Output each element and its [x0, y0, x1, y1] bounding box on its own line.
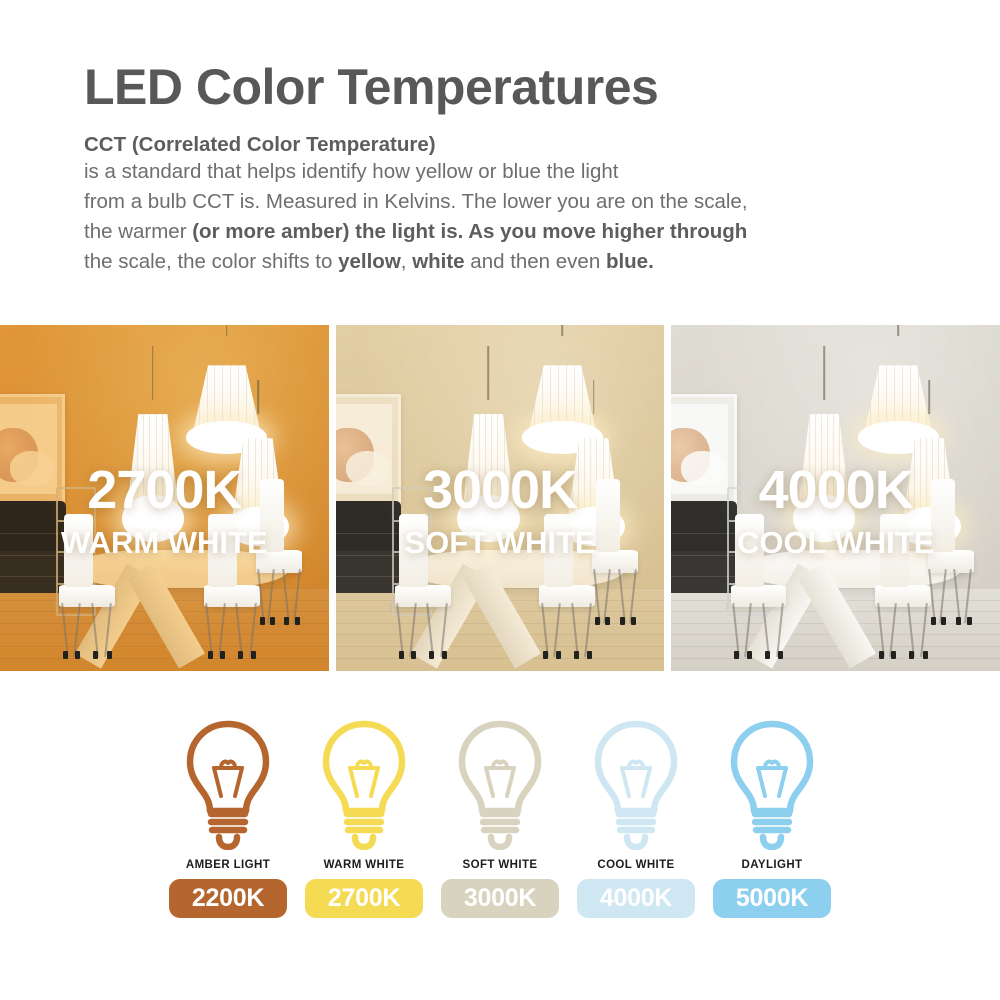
- chair-foot: [543, 651, 548, 659]
- header: LED Color Temperatures CCT (Correlated C…: [0, 0, 1000, 278]
- kelvin-badge[interactable]: 5000K: [713, 879, 831, 918]
- chair-back: [880, 514, 909, 587]
- scale-item-2200k[interactable]: AMBER LIGHT2200K: [160, 718, 296, 918]
- room-panel-2700k: 2700K WARM WHITE: [0, 325, 329, 671]
- chair-leg: [732, 603, 739, 657]
- chair-leg: [61, 603, 68, 657]
- lamp-cord: [929, 380, 931, 413]
- chair-foot: [429, 651, 434, 659]
- chair-foot: [941, 617, 946, 625]
- page-title: LED Color Temperatures: [84, 62, 1000, 113]
- kelvin-badge[interactable]: 2200K: [169, 879, 287, 918]
- kelvin-badge[interactable]: 4000K: [577, 879, 695, 918]
- room-scene-cool: [671, 325, 1000, 671]
- chair-foot: [75, 651, 80, 659]
- chair-leg: [603, 569, 610, 623]
- lamp-cord: [488, 346, 490, 400]
- scale-item-3000k[interactable]: SOFT WHITE3000K: [432, 718, 568, 918]
- chair-seat: [875, 585, 931, 608]
- chair-foot: [270, 617, 275, 625]
- chair-foot: [765, 651, 770, 659]
- scale-label: WARM WHITE: [324, 859, 405, 871]
- chair-foot: [556, 651, 561, 659]
- chair-leg: [104, 603, 111, 657]
- chair-leg: [744, 603, 751, 657]
- chair-foot: [620, 617, 625, 625]
- chair-leg: [205, 603, 212, 657]
- chair-leg: [889, 603, 896, 657]
- chair-foot: [251, 651, 256, 659]
- chair-seat: [539, 585, 595, 608]
- chair-leg: [571, 603, 578, 657]
- chair-foot: [956, 617, 961, 625]
- chair-leg: [907, 603, 914, 657]
- lamp-cord: [823, 346, 825, 400]
- chair-leg: [257, 569, 264, 623]
- lamp-diffuser: [122, 495, 185, 542]
- scale-label: AMBER LIGHT: [186, 859, 270, 871]
- chair-foot: [574, 651, 579, 659]
- chair-leg: [440, 603, 447, 657]
- chair-back: [208, 514, 237, 587]
- kelvin-badge[interactable]: 2700K: [305, 879, 423, 918]
- chair-leg: [585, 603, 592, 657]
- intro-paragraph: CCT (Correlated Color Temperature) is a …: [84, 133, 1000, 278]
- intro-line-2: from a bulb CCT is. Measured in Kelvins.…: [84, 187, 1000, 217]
- chair-leg: [929, 569, 936, 623]
- chair-leg: [762, 603, 769, 657]
- chair-seat: [592, 550, 638, 573]
- scale-label: DAYLIGHT: [742, 859, 803, 871]
- chair-foot: [595, 617, 600, 625]
- scale-label: COOL WHITE: [597, 859, 674, 871]
- chair-foot: [284, 617, 289, 625]
- lamp-cord: [257, 380, 259, 413]
- chair-seat: [928, 550, 974, 573]
- chair-foot: [778, 651, 783, 659]
- chair-back: [931, 479, 955, 552]
- chair-leg: [877, 603, 884, 657]
- scale-item-5000k[interactable]: DAYLIGHT5000K: [704, 718, 840, 918]
- chair-foot: [93, 651, 98, 659]
- color-temperature-scale: AMBER LIGHT2200KWARM WHITE2700KSOFT WHIT…: [0, 718, 1000, 918]
- dining-chair: [731, 553, 787, 657]
- chair-foot: [238, 651, 243, 659]
- chair-leg: [939, 569, 946, 623]
- dining-chair: [204, 553, 260, 657]
- chair-leg: [541, 603, 548, 657]
- chair-foot: [399, 651, 404, 659]
- chair-foot: [631, 617, 636, 625]
- room-scene-soft: [336, 325, 665, 671]
- chair-leg: [593, 569, 600, 623]
- chair-foot: [442, 651, 447, 659]
- chair-back: [399, 514, 428, 587]
- chair-foot: [220, 651, 225, 659]
- chair-foot: [260, 617, 265, 625]
- chair-leg: [218, 603, 225, 657]
- dining-chair: [395, 553, 451, 657]
- chair-foot: [63, 651, 68, 659]
- chair-leg: [282, 569, 289, 623]
- chair-foot: [734, 651, 739, 659]
- chair-leg: [267, 569, 274, 623]
- lamp-cord: [152, 346, 154, 400]
- kelvin-badge[interactable]: 3000K: [441, 879, 559, 918]
- chair-foot: [411, 651, 416, 659]
- chair-seat: [204, 585, 260, 608]
- chair-leg: [249, 603, 256, 657]
- chair-leg: [73, 603, 80, 657]
- chair-foot: [605, 617, 610, 625]
- lamp-cord: [226, 325, 228, 336]
- intro-line-1: is a standard that helps identify how ye…: [84, 157, 1000, 187]
- lamp-cord: [562, 325, 564, 336]
- chair-leg: [964, 569, 971, 623]
- chair-foot: [208, 651, 213, 659]
- pendant-lamp: [461, 346, 517, 526]
- lamp-diffuser: [793, 495, 856, 542]
- chair-back: [596, 479, 620, 552]
- pendant-lamp: [796, 346, 852, 526]
- lightbulb-icon: [724, 718, 820, 850]
- chair-leg: [920, 603, 927, 657]
- dining-chair: [256, 519, 302, 623]
- lightbulb-icon: [316, 718, 412, 850]
- chair-leg: [427, 603, 434, 657]
- scale-label: SOFT WHITE: [463, 859, 538, 871]
- chair-leg: [776, 603, 783, 657]
- chair-seat: [731, 585, 787, 608]
- dining-chair: [539, 553, 595, 657]
- chair-foot: [967, 617, 972, 625]
- dining-chair: [875, 553, 931, 657]
- chair-foot: [107, 651, 112, 659]
- lamp-diffuser: [457, 495, 520, 542]
- chair-back: [544, 514, 573, 587]
- lamp-cord: [593, 380, 595, 413]
- chair-foot: [891, 651, 896, 659]
- room-panel-3000k: 3000K SOFT WHITE: [336, 325, 665, 671]
- chair-leg: [293, 569, 300, 623]
- scale-item-4000k[interactable]: COOL WHITE4000K: [568, 718, 704, 918]
- intro-lead: CCT (Correlated Color Temperature): [84, 133, 1000, 157]
- chair-seat: [59, 585, 115, 608]
- chair-foot: [931, 617, 936, 625]
- chair-back: [735, 514, 764, 587]
- lightbulb-icon: [452, 718, 548, 850]
- chair-leg: [553, 603, 560, 657]
- dining-chair: [592, 519, 638, 623]
- chair-foot: [747, 651, 752, 659]
- chair-leg: [629, 569, 636, 623]
- pendant-lamp: [125, 346, 181, 526]
- room-photo-comparison: 2700K WARM WHITE 3000K: [0, 325, 1000, 671]
- dining-chair: [59, 553, 115, 657]
- lamp-cord: [897, 325, 899, 336]
- chair-back: [64, 514, 93, 587]
- chair-leg: [953, 569, 960, 623]
- chair-seat: [395, 585, 451, 608]
- chair-seat: [256, 550, 302, 573]
- chair-foot: [923, 651, 928, 659]
- chair-leg: [396, 603, 403, 657]
- chair-leg: [618, 569, 625, 623]
- lightbulb-icon: [588, 718, 684, 850]
- room-panel-4000k: 4000K COOL WHITE: [671, 325, 1000, 671]
- dining-chair: [928, 519, 974, 623]
- intro-line-4: the scale, the color shifts to yellow, w…: [84, 247, 1000, 277]
- chair-foot: [879, 651, 884, 659]
- chair-foot: [587, 651, 592, 659]
- chair-foot: [295, 617, 300, 625]
- chair-leg: [91, 603, 98, 657]
- chair-leg: [236, 603, 243, 657]
- lightbulb-icon: [180, 718, 276, 850]
- chair-leg: [409, 603, 416, 657]
- chair-foot: [909, 651, 914, 659]
- scale-item-2700k[interactable]: WARM WHITE2700K: [296, 718, 432, 918]
- chair-back: [260, 479, 284, 552]
- room-scene-warm: [0, 325, 329, 671]
- intro-line-3: the warmer (or more amber) the light is.…: [84, 217, 1000, 247]
